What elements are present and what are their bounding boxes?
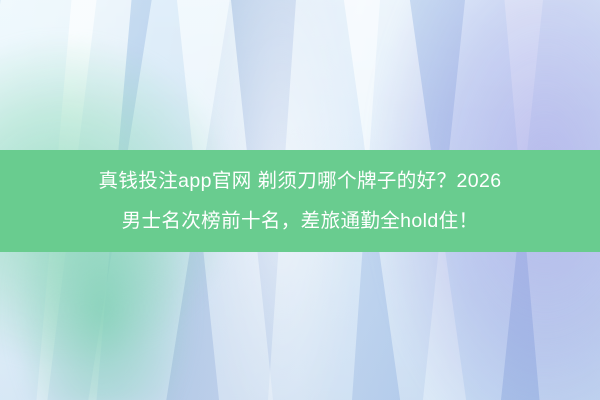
- headline-banner: 真钱投注app官网 剃须刀哪个牌子的好？2026 男士名次榜前十名，差旅通勤全h…: [0, 150, 600, 252]
- image-canvas: 真钱投注app官网 剃须刀哪个牌子的好？2026 男士名次榜前十名，差旅通勤全h…: [0, 0, 600, 400]
- headline-line-1: 真钱投注app官网 剃须刀哪个牌子的好？2026: [99, 161, 502, 201]
- headline-line-2: 男士名次榜前十名，差旅通勤全hold住！: [122, 201, 479, 241]
